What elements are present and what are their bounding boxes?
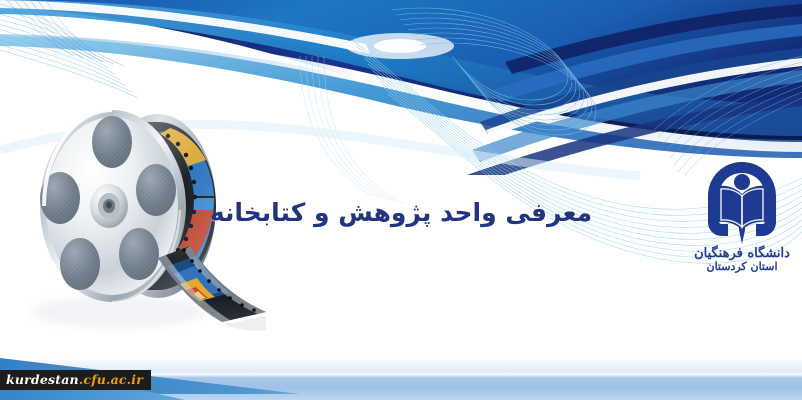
- farhangian-emblem-icon: [704, 160, 780, 246]
- site-url-badge[interactable]: kurdestan.cfu.ac.ir: [0, 370, 151, 390]
- logo-university-name: دانشگاه فرهنگیان: [694, 247, 790, 261]
- headline-text: معرفی واحد پژوهش و کتابخانه: [210, 198, 592, 227]
- site-url-main: kurdestan: [6, 370, 79, 390]
- logo-province-name: استان کردستان: [694, 261, 790, 273]
- site-url-tld: .cfu.ac.ir: [79, 370, 143, 390]
- film-reel-artwork: [8, 98, 308, 358]
- page-title: معرفی واحد پژوهش و کتابخانه: [0, 198, 802, 227]
- banner-root: معرفی واحد پژوهش و کتابخانه دانشگاه: [0, 0, 802, 400]
- university-logo: دانشگاه فرهنگیان استان کردستان: [694, 160, 790, 292]
- logo-caption: دانشگاه فرهنگیان استان کردستان: [694, 247, 790, 272]
